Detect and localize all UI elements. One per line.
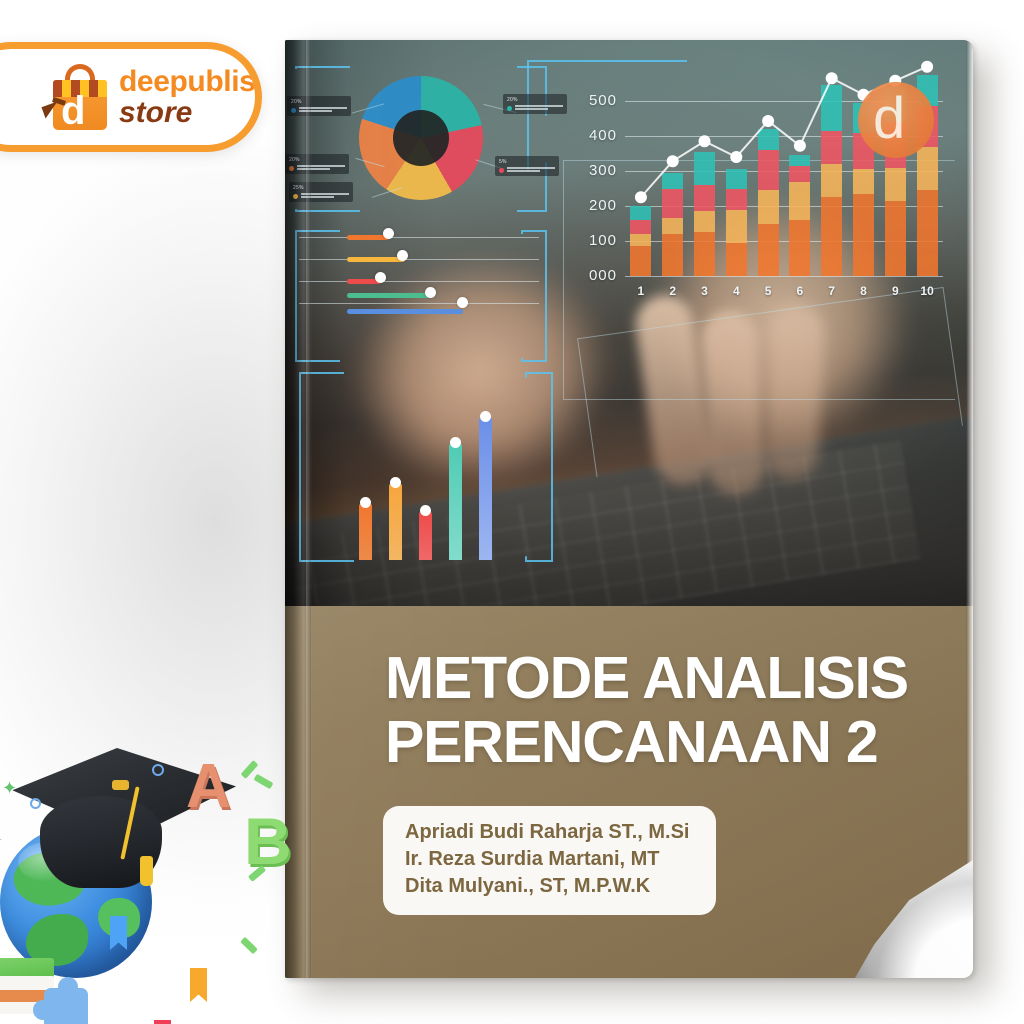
y-axis-tick: 400 (589, 127, 617, 144)
book-title-line2: PERENCANAAN 2 (385, 710, 915, 774)
x-axis-tick: 9 (892, 284, 899, 298)
authors-card: Apriadi Budi Raharja ST., M.Si Ir. Reza … (383, 806, 716, 915)
badge-letter: d (873, 90, 905, 148)
author-1: Apriadi Budi Raharja ST., M.Si (405, 819, 690, 846)
y-axis-tick: 100 (589, 232, 617, 249)
author-3: Dita Mulyani., ST, M.P.W.K (405, 873, 690, 900)
bag-letter: d (61, 92, 85, 130)
x-axis-tick: 6 (797, 284, 804, 298)
book-title: METODE ANALISIS PERENCANAAN 2 (385, 646, 915, 774)
x-axis-tick: 7 (828, 284, 835, 298)
brand-name-secondary: store (119, 97, 262, 128)
education-3d-illustration: A B ✦ ✦ (0, 730, 292, 1024)
book-cover[interactable]: 20% 20% 5% 20% 25% (285, 40, 973, 978)
deepublish-bag-icon: d (49, 64, 111, 130)
gridline (625, 276, 943, 277)
donut-callout-red: 5% (495, 156, 559, 176)
book-page-edge (966, 40, 973, 978)
deepublish-store-logo[interactable]: d deepublish store (0, 42, 262, 152)
x-axis-tick: 5 (765, 284, 772, 298)
sparkle-icon: ✦ (2, 778, 17, 799)
letter-a-icon: A (186, 756, 231, 818)
trend-line-point (699, 135, 711, 147)
trend-line-point (730, 151, 742, 163)
x-axis-tick: 2 (669, 284, 676, 298)
trend-line-point (762, 115, 774, 127)
trend-line-point (794, 140, 806, 152)
author-2: Ir. Reza Surdia Martani, MT (405, 846, 690, 873)
small-column-chart (305, 370, 555, 560)
y-axis-tick: 500 (589, 92, 617, 109)
title-band: METODE ANALISIS PERENCANAAN 2 Apriadi Bu… (285, 606, 973, 978)
trend-line-point (826, 72, 838, 84)
y-axis-tick: 200 (589, 197, 617, 214)
trend-line-point (635, 191, 647, 203)
x-axis-tick: 4 (733, 284, 740, 298)
trend-line-point (921, 61, 933, 73)
book-title-line1: METODE ANALISIS (385, 646, 915, 710)
deepublish-d-badge-icon: d (858, 82, 934, 158)
sparkle-icon: ✦ (0, 830, 3, 851)
book-spine-highlight (306, 40, 312, 978)
donut-chart-ring (359, 76, 483, 200)
letter-b-icon: B (244, 808, 292, 874)
y-axis-tick: 000 (589, 267, 617, 284)
x-axis-tick: 8 (860, 284, 867, 298)
horizontal-bar-chart (299, 225, 539, 335)
ring-icon (152, 764, 164, 776)
bookmark-red-icon (154, 1020, 171, 1024)
ring-icon (30, 798, 41, 809)
cover-photo: 20% 20% 5% 20% 25% (285, 40, 973, 606)
x-axis-tick: 3 (701, 284, 708, 298)
trend-line-point (667, 155, 679, 167)
x-axis-tick: 1 (638, 284, 645, 298)
donut-callout-teal: 20% (503, 94, 567, 114)
chevron-accent-icon (254, 774, 274, 790)
brand-name-primary: deepublish (119, 67, 262, 97)
puzzle-piece-icon (44, 988, 88, 1024)
y-axis-tick: 300 (589, 162, 617, 179)
donut-chart: 20% 20% 5% 20% 25% (297, 68, 537, 208)
x-axis-tick: 10 (920, 284, 933, 298)
